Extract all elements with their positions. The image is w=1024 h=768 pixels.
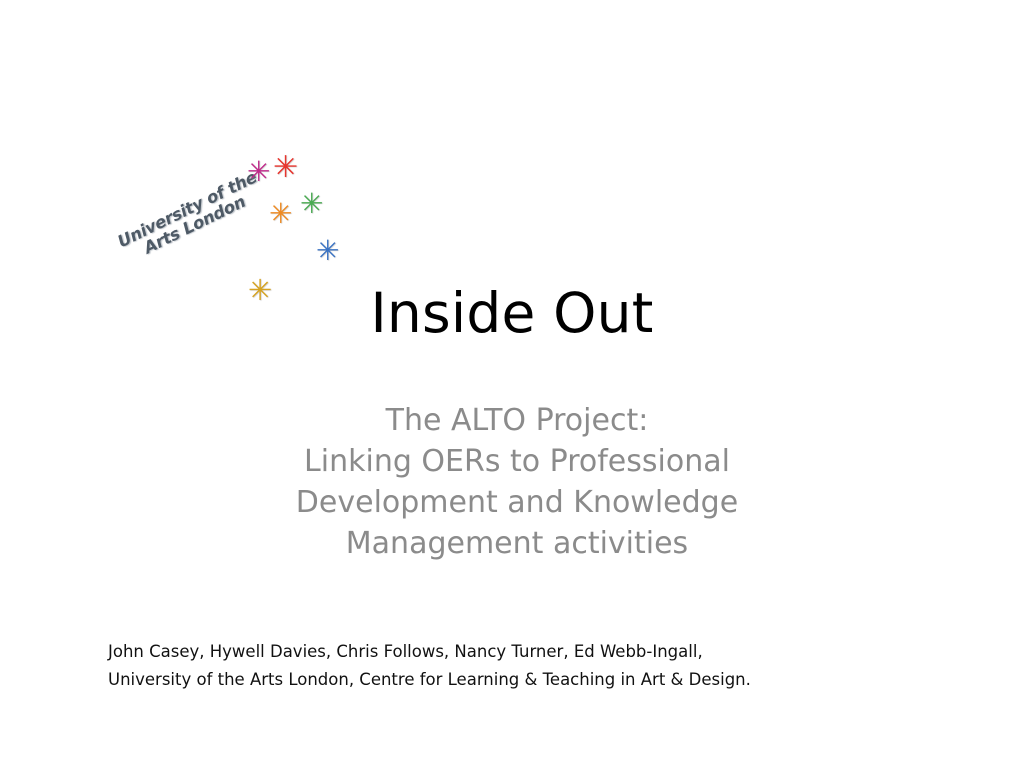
asterisk-star-icon: ✳ bbox=[300, 190, 323, 218]
subtitle-line: Management activities bbox=[250, 523, 784, 564]
subtitle-line: Development and Knowledge bbox=[250, 482, 784, 523]
subtitle-placeholder: The ALTO Project: Linking OERs to Profes… bbox=[250, 400, 784, 564]
page-title: Inside Out bbox=[0, 283, 1024, 345]
author-line: University of the Arts London, Centre fo… bbox=[108, 666, 928, 694]
asterisk-star-icon: ✳ bbox=[316, 237, 339, 265]
presentation-slide: University of the Arts London ✳ ✳ ✳ ✳ ✳ … bbox=[0, 0, 1024, 768]
author-line: John Casey, Hywell Davies, Chris Follows… bbox=[108, 638, 928, 666]
asterisk-star-icon: ✳ bbox=[269, 200, 292, 228]
ual-logo: University of the Arts London ✳ ✳ ✳ ✳ ✳ … bbox=[54, 72, 314, 242]
asterisk-star-icon: ✳ bbox=[247, 158, 270, 186]
author-credits: John Casey, Hywell Davies, Chris Follows… bbox=[108, 638, 928, 694]
subtitle-line: The ALTO Project: bbox=[250, 400, 784, 441]
title-placeholder: Inside Out bbox=[0, 283, 1024, 345]
subtitle-line: Linking OERs to Professional bbox=[250, 441, 784, 482]
asterisk-star-icon: ✳ bbox=[273, 153, 298, 183]
